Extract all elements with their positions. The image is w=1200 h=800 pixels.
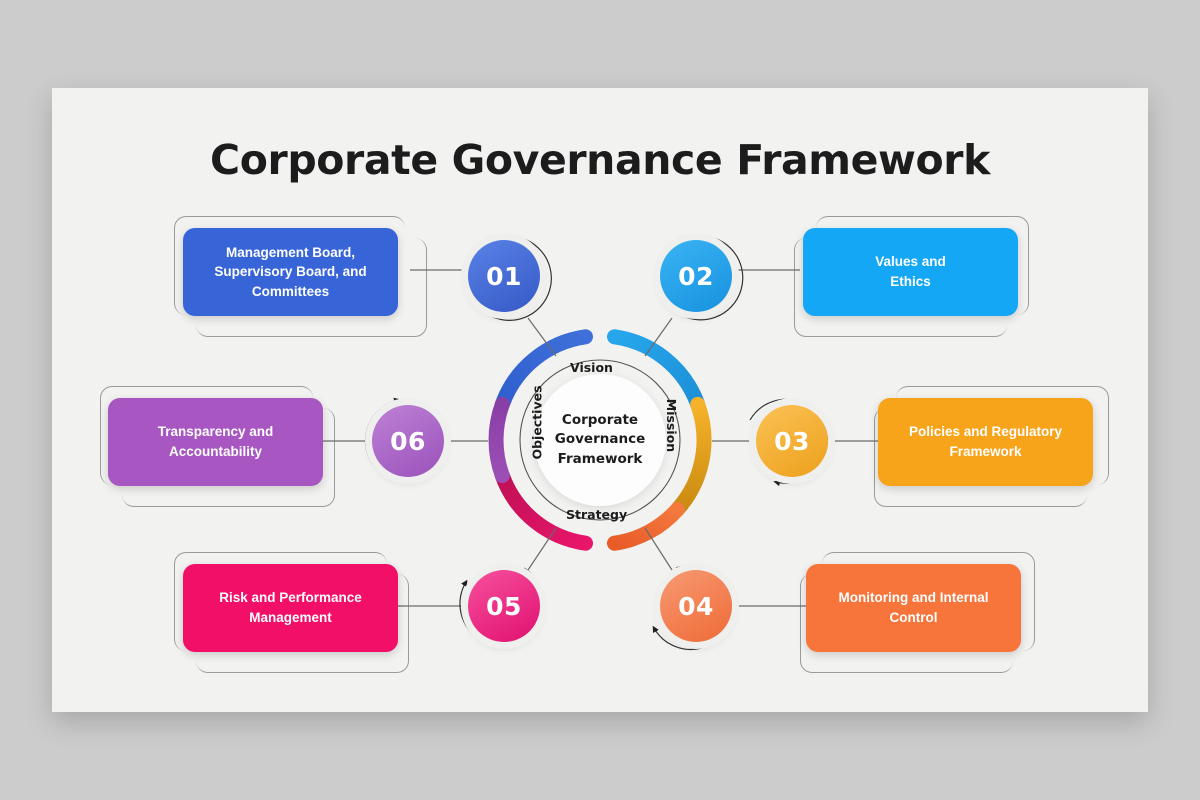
page-title: Corporate Governance Framework (52, 136, 1148, 184)
label-box-03-line2: Framework (909, 442, 1062, 462)
label-box-05[interactable]: Risk and Performance Management (183, 564, 398, 652)
ring-label-objectives: Objectives (530, 385, 545, 459)
infographic-stage: Corporate Governance Framework (0, 0, 1200, 800)
step-number-06: 06 (390, 427, 426, 456)
center-core-line2: Governance (555, 430, 645, 449)
label-box-04-line1: Monitoring and Internal (839, 588, 989, 608)
step-circle-01[interactable]: 01 (468, 240, 540, 312)
step-number-02: 02 (678, 262, 714, 291)
label-box-06-line1: Transparency and (158, 422, 274, 442)
center-core: Corporate Governance Framework (534, 374, 666, 506)
label-box-03-line1: Policies and Regulatory (909, 422, 1062, 442)
ring-label-vision: Vision (570, 360, 613, 375)
label-box-05-line1: Risk and Performance (219, 588, 362, 608)
label-box-02-line1: Values and (875, 252, 946, 272)
center-core-line3: Framework (555, 450, 645, 469)
step-number-03: 03 (774, 427, 810, 456)
label-box-01[interactable]: Management Board, Supervisory Board, and… (183, 228, 398, 316)
step-circle-03[interactable]: 03 (756, 405, 828, 477)
center-core-line1: Corporate (555, 411, 645, 430)
label-box-06[interactable]: Transparency and Accountability (108, 398, 323, 486)
step-number-05: 05 (486, 592, 522, 621)
label-box-02[interactable]: Values and Ethics (803, 228, 1018, 316)
label-box-01-line2: Supervisory Board, and (214, 262, 366, 282)
step-number-01: 01 (486, 262, 522, 291)
step-number-04: 04 (678, 592, 714, 621)
label-box-04-line2: Control (839, 608, 989, 628)
step-circle-04[interactable]: 04 (660, 570, 732, 642)
step-circle-06[interactable]: 06 (372, 405, 444, 477)
label-box-01-line3: Committees (214, 282, 366, 302)
label-box-02-line2: Ethics (875, 272, 946, 292)
label-box-06-line2: Accountability (158, 442, 274, 462)
label-box-01-line1: Management Board, (214, 243, 366, 263)
ring-label-strategy: Strategy (566, 507, 627, 522)
label-box-03[interactable]: Policies and Regulatory Framework (878, 398, 1093, 486)
label-box-04[interactable]: Monitoring and Internal Control (806, 564, 1021, 652)
step-circle-05[interactable]: 05 (468, 570, 540, 642)
ring-label-mission: Mission (664, 399, 679, 452)
label-box-05-line2: Management (219, 608, 362, 628)
step-circle-02[interactable]: 02 (660, 240, 732, 312)
